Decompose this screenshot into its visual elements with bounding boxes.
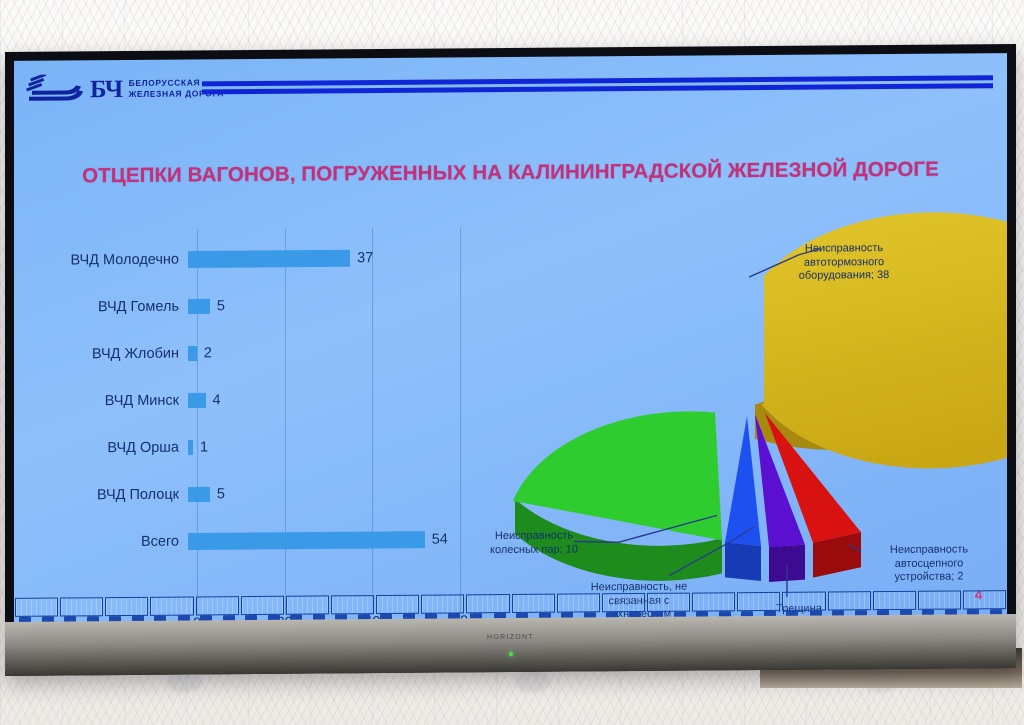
bar-chart-row: ВЧД Жлобин2 xyxy=(30,327,460,377)
wagon-icon xyxy=(331,595,374,621)
wagon-icon xyxy=(286,595,329,621)
railway-swoosh-icon xyxy=(26,74,84,104)
pie-chart: Неисправность автотормозного оборудовани… xyxy=(469,203,1007,624)
wagon-icon xyxy=(15,598,58,624)
bar xyxy=(188,486,210,501)
wagon-icon xyxy=(828,591,871,617)
pie-label-brake-equipment: Неисправность автотормозного оборудовани… xyxy=(769,242,919,284)
tv-brand-label: HORIZONT xyxy=(5,630,1016,645)
bar xyxy=(188,298,210,313)
bzd-logo: БЧ БЕЛОРУССКАЯ ЖЕЛЕЗНАЯ ДОРОГА xyxy=(26,73,224,105)
bar-category-label: ВЧД Жлобин xyxy=(30,345,188,362)
logo-abbr: БЧ xyxy=(90,77,123,102)
wagon-icon xyxy=(105,597,148,623)
bar-category-label: ВЧД Молодечно xyxy=(30,251,188,268)
bar xyxy=(188,439,193,454)
wagon-icon xyxy=(918,590,961,616)
presentation-slide: БЧ БЕЛОРУССКАЯ ЖЕЛЕЗНАЯ ДОРОГА ОТЦЕПКИ В… xyxy=(14,53,1007,624)
bar-track: 54 xyxy=(188,515,460,564)
wagon-icon xyxy=(873,591,916,617)
wagon-icon xyxy=(782,592,825,618)
bar-chart-row: ВЧД Орша1 xyxy=(30,421,460,471)
tv-screen: БЧ БЕЛОРУССКАЯ ЖЕЛЕЗНАЯ ДОРОГА ОТЦЕПКИ В… xyxy=(14,53,1007,624)
wagon-icon xyxy=(466,594,509,620)
bar-chart-row: ВЧД Минск4 xyxy=(30,374,460,424)
wagon-icon xyxy=(692,592,735,618)
pie-label-wheelsets: Неисправность колесных пар; 10 xyxy=(464,529,604,557)
bar-category-label: ВЧД Полоцк xyxy=(30,486,188,503)
wagon-icon xyxy=(150,596,193,622)
wagon-icon xyxy=(512,594,555,620)
wagon-icon xyxy=(421,594,464,620)
wagon-icon xyxy=(647,593,690,619)
bar-value-label: 2 xyxy=(204,345,212,361)
bar xyxy=(188,345,197,360)
bar xyxy=(188,531,425,550)
bar-category-label: ВЧД Минск xyxy=(30,392,188,409)
bar-value-label: 54 xyxy=(432,531,448,547)
bar-value-label: 5 xyxy=(217,486,225,502)
bar-chart-row: Всего54 xyxy=(30,515,460,565)
wagon-icon xyxy=(963,590,1006,616)
bar-value-label: 1 xyxy=(200,439,208,455)
wagon-icon xyxy=(602,593,645,619)
bar-track: 1 xyxy=(188,421,460,470)
bar-value-label: 37 xyxy=(357,250,373,266)
wagon-icon xyxy=(557,593,600,619)
bar-chart-row: ВЧД Молодечно37 xyxy=(30,233,460,283)
bar-track: 2 xyxy=(188,327,460,376)
bar-category-label: ВЧД Гомель xyxy=(30,298,188,315)
bar-track: 37 xyxy=(188,233,460,282)
tv-power-led xyxy=(509,652,513,656)
tv-bezel: HORIZONT xyxy=(5,614,1016,676)
wagon-icon xyxy=(196,596,239,622)
gridline xyxy=(460,227,461,613)
bar xyxy=(188,249,350,267)
page-title: ОТЦЕПКИ ВАГОНОВ, ПОГРУЖЕННЫХ НА КАЛИНИНГ… xyxy=(14,157,1007,189)
bar xyxy=(188,392,206,407)
wagon-icon xyxy=(60,597,103,623)
bar-chart-row: ВЧД Полоцк5 xyxy=(30,468,460,518)
bar-chart-row: ВЧД Гомель5 xyxy=(30,280,460,330)
bar-track: 4 xyxy=(188,374,460,423)
television: БЧ БЕЛОРУССКАЯ ЖЕЛЕЗНАЯ ДОРОГА ОТЦЕПКИ В… xyxy=(5,44,1016,676)
header-stripes xyxy=(202,75,993,94)
bar-chart: ВЧД Молодечно37ВЧД Гомель5ВЧД Жлобин2ВЧД… xyxy=(30,227,460,624)
slide-header: БЧ БЕЛОРУССКАЯ ЖЕЛЕЗНАЯ ДОРОГА xyxy=(14,61,1007,109)
wagon-icon xyxy=(737,592,780,618)
bar-value-label: 5 xyxy=(217,298,225,314)
bar-category-label: ВЧД Орша xyxy=(30,439,188,456)
bar-track: 5 xyxy=(188,468,460,517)
bar-track: 5 xyxy=(188,280,460,329)
wagon-icon xyxy=(241,596,284,622)
bar-category-label: Всего xyxy=(30,533,188,550)
wagon-icon xyxy=(376,595,419,621)
bar-value-label: 4 xyxy=(213,392,221,408)
